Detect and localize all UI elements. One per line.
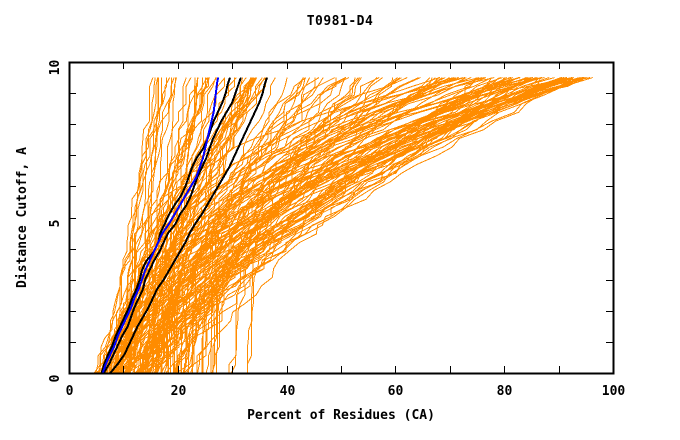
x-tick-label: 80 — [497, 384, 513, 399]
y-tick-label: 10 — [48, 60, 63, 76]
x-tick-label: 20 — [171, 384, 187, 399]
chart-page: T0981-D4 0204060801000510Percent of Resi… — [0, 0, 680, 440]
x-tick-label: 100 — [602, 384, 626, 399]
distance-cutoff-plot: 0204060801000510Percent of Residues (CA)… — [0, 0, 680, 440]
prediction-curve — [176, 78, 561, 373]
x-tick-label: 0 — [66, 384, 74, 399]
x-tick-label: 40 — [280, 384, 296, 399]
plot-area: 0204060801000510Percent of Residues (CA)… — [0, 0, 680, 440]
y-tick-label: 0 — [48, 374, 63, 382]
y-axis-title: Distance Cutoff, A — [15, 147, 30, 288]
x-tick-label: 60 — [388, 384, 404, 399]
y-tick-label: 5 — [48, 220, 63, 228]
x-axis-title: Percent of Residues (CA) — [247, 408, 435, 423]
